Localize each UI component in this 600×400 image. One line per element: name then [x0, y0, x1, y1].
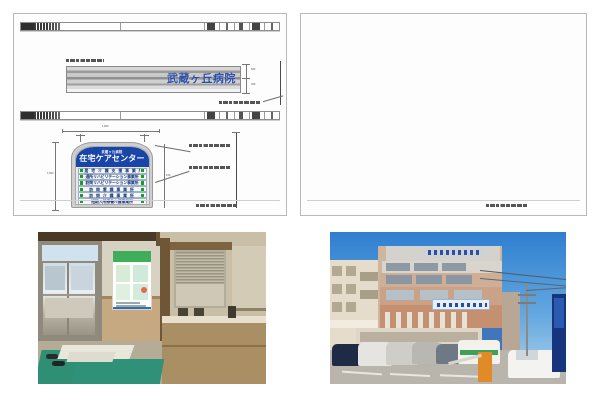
wing-window — [346, 266, 356, 276]
window-lower-glass — [176, 284, 224, 306]
chair-tall — [228, 306, 236, 318]
outdoor-view-left — [45, 266, 65, 290]
title-block-2-number — [21, 112, 34, 119]
green-square-icon — [141, 181, 144, 184]
band-leader-note — [219, 101, 263, 104]
title-block-scale-value — [219, 23, 234, 30]
sign-service-label: 訪 問 看 護 事 業 所 — [84, 187, 139, 192]
green-square-icon — [80, 169, 83, 172]
wall-poster — [112, 250, 152, 310]
door-rail — [43, 294, 95, 296]
green-square-icon — [80, 194, 83, 197]
sign-service-label: 訪問リハビリテーション事業所 — [84, 180, 139, 185]
care-leader-note-2 — [189, 166, 237, 169]
care-height-text: 1,500 — [47, 172, 54, 175]
presentation-page: 武蔵ヶ丘病院 600 450 1,800 — [0, 0, 600, 400]
interior-reception-photo — [38, 232, 266, 384]
green-square-icon — [80, 188, 83, 191]
title-block-2-scale-label — [204, 112, 219, 119]
floor-protection-sheet — [72, 359, 164, 384]
title-block-sheet-value — [249, 23, 264, 30]
green-square-icon — [141, 169, 144, 172]
shoes — [52, 361, 65, 366]
sign-title: 在宅ケアセンター — [79, 154, 144, 163]
band-section-line — [280, 61, 281, 105]
shoes — [46, 354, 58, 359]
title-block-number — [21, 23, 34, 30]
title-block-2-scale-value — [219, 112, 234, 119]
band-sign-note — [66, 59, 104, 62]
cad-sheet-elevation: 武蔵ヶ丘病院 — [300, 13, 587, 216]
poster-map-2 — [133, 265, 148, 282]
sheet-right-footer — [486, 204, 578, 207]
upper-window — [414, 263, 438, 271]
entrance-guide-sign: 武蔵ヶ丘病院 在宅ケアセンター 居 宅 介 護 支 援 事 業 所 通所リハビリ… — [71, 142, 153, 208]
rooftop-sign-panel — [424, 248, 486, 257]
footer-rule-right — [307, 200, 580, 201]
poster-map-3 — [116, 284, 130, 300]
green-square-icon — [80, 181, 83, 184]
sheet-left-footer — [196, 204, 278, 207]
poster-text-line — [116, 302, 140, 304]
title-rule-2 — [20, 120, 280, 121]
green-square-icon — [141, 194, 144, 197]
wing-window — [332, 266, 342, 276]
sign-frame: 武蔵ヶ丘病院 在宅ケアセンター 居 宅 介 護 支 援 事 業 所 通所リハビリ… — [71, 142, 153, 208]
wall-band-sign-text: 武蔵ヶ丘病院 — [167, 73, 236, 86]
title-block-sheet-label — [234, 23, 249, 30]
counter-groove — [162, 345, 266, 347]
wing-window — [332, 284, 342, 294]
cad-sheet-signage: 武蔵ヶ丘病院 600 450 1,800 — [13, 13, 287, 216]
band-dim-text-2: 450 — [251, 83, 255, 86]
wing-window — [346, 284, 356, 294]
green-square-icon — [141, 175, 144, 178]
band-dim-text-1: 600 — [251, 68, 255, 71]
title-block-2-rev — [264, 112, 279, 119]
window-band — [416, 275, 442, 284]
wing-window-wide — [360, 272, 378, 281]
title-block-1 — [20, 22, 280, 31]
poster-accent-dot — [141, 287, 147, 293]
title-block-2-sheet-value — [249, 112, 264, 119]
outdoor-pavement — [45, 298, 93, 318]
care-section-line — [236, 132, 237, 208]
title-block-spacer — [121, 23, 204, 30]
facade-sign-lettering — [437, 303, 487, 307]
pylon-sign-face — [554, 298, 564, 328]
sign-service-label: 居 宅 介 護 支 援 事 業 所 — [84, 168, 139, 173]
upper-window — [442, 263, 466, 271]
care-leader-note-1 — [189, 144, 233, 147]
title-block-2-spacer — [121, 112, 204, 119]
footer-rule — [20, 200, 280, 201]
pole-crossarm — [518, 294, 536, 296]
sign-service-label: 通所リハビリテーション事業所 — [84, 174, 139, 179]
chair — [178, 308, 188, 316]
balcony-glass — [386, 290, 414, 300]
sign-inner-panel: 武蔵ヶ丘病院 在宅ケアセンター 居 宅 介 護 支 援 事 業 所 通所リハビリ… — [75, 146, 150, 205]
counter-front — [162, 323, 266, 384]
title-block-2 — [20, 111, 280, 120]
title-block-name — [34, 23, 121, 30]
window-band — [386, 275, 412, 284]
care-leader-2 — [155, 171, 189, 182]
poster-header — [113, 251, 151, 262]
green-square-icon — [141, 188, 144, 191]
window-band — [446, 275, 472, 284]
floor-paper-sheet — [66, 352, 115, 362]
wing-window — [346, 302, 356, 312]
title-block-2-sheet-label — [234, 112, 249, 119]
facade-sign-board — [432, 299, 490, 310]
reception-header-beam — [170, 242, 232, 250]
wall-band-sign: 武蔵ヶ丘病院 — [66, 66, 241, 93]
care-width-text: 1,800 — [102, 125, 109, 128]
sign-service-list: 居 宅 介 護 支 援 事 業 所 通所リハビリテーション事業所 訪問リハビリテ… — [78, 168, 147, 203]
sign-header: 武蔵ヶ丘病院 在宅ケアセンター — [76, 147, 149, 167]
counter-top — [162, 316, 266, 323]
chair — [194, 308, 204, 316]
care-leader-1 — [155, 145, 191, 152]
title-rule-1 — [20, 31, 280, 32]
title-block-2-name — [34, 112, 121, 119]
pole-crossarm — [518, 302, 536, 304]
green-square-icon — [80, 175, 83, 178]
upper-window — [386, 263, 410, 271]
exterior-building-photo — [330, 232, 566, 384]
poster-footer-bar — [113, 307, 151, 309]
poster-map-1 — [116, 265, 130, 282]
back-shelf — [234, 308, 266, 311]
window-blind — [176, 252, 224, 284]
outdoor-view-right — [71, 266, 93, 290]
sign-service-label: 訪 問 介 護 事 業 所 — [84, 193, 139, 198]
title-block-rev — [264, 23, 279, 30]
rooftop-sign-lettering — [428, 250, 482, 255]
title-block-scale-label — [204, 23, 219, 30]
wing-window — [332, 302, 342, 312]
back-wall — [232, 246, 266, 308]
wing-window-wide — [360, 290, 378, 299]
transom-glass — [42, 245, 98, 261]
